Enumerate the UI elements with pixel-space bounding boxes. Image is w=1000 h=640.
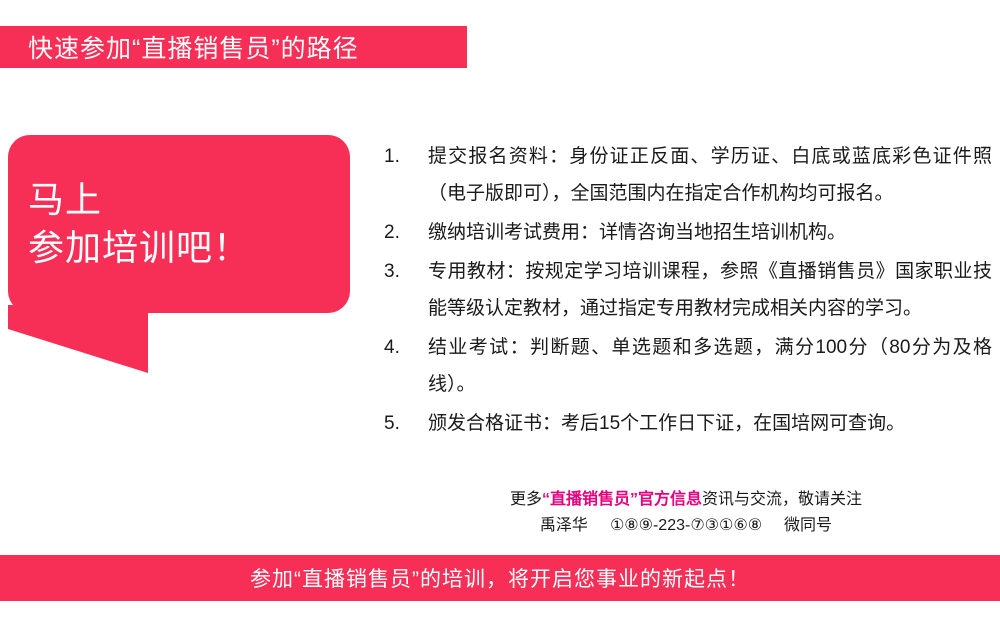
contact-wechat-note: 微同号 (784, 517, 832, 534)
list-item-text: 提交报名资料：身份证正反面、学历证、白底或蓝底彩色证件照（电子版即可），全国范围… (428, 138, 992, 212)
contact-phone: ①⑧⑨-223-⑦③①⑥⑧ (610, 517, 762, 534)
follow-us-line: 更多“直播销售员”官方信息资讯与交流，敬请关注 (380, 487, 992, 513)
callout-speech-bubble: 马上 参加培训吧！ (8, 135, 350, 375)
steps-list: 1. 提交报名资料：身份证正反面、学历证、白底或蓝底彩色证件照（电子版即可），全… (380, 138, 992, 444)
list-item-text: 缴纳培训考试费用：详情咨询当地招生培训机构。 (428, 214, 992, 251)
footer-slogan: 参加“直播销售员”的培训，将开启您事业的新起点！ (250, 563, 750, 593)
list-item-text: 结业考试：判断题、单选题和多选题，满分100分（80分为及格线）。 (428, 329, 992, 403)
contact-details-line: 禹泽华①⑧⑨-223-⑦③①⑥⑧微同号 (380, 513, 992, 539)
contact-block: 更多“直播销售员”官方信息资讯与交流，敬请关注 禹泽华①⑧⑨-223-⑦③①⑥⑧… (380, 487, 992, 539)
footer-banner: 参加“直播销售员”的培训，将开启您事业的新起点！ (0, 555, 1000, 601)
list-item-marker: 2. (380, 214, 428, 251)
list-item-marker: 4. (380, 329, 428, 366)
list-item: 4. 结业考试：判断题、单选题和多选题，满分100分（80分为及格线）。 (380, 329, 992, 403)
follow-us-highlight: “直播销售员”官方信息 (542, 491, 702, 508)
list-item-text: 颁发合格证书：考后15个工作日下证，在国培网可查询。 (428, 405, 992, 442)
list-item-text: 专用教材：按规定学习培训课程，参照《直播销售员》国家职业技能等级认定教材，通过指… (428, 253, 992, 327)
speech-bubble-tail-icon (8, 305, 168, 373)
list-item: 1. 提交报名资料：身份证正反面、学历证、白底或蓝底彩色证件照（电子版即可），全… (380, 138, 992, 212)
header-title: 快速参加“直播销售员”的路径 (0, 29, 359, 65)
contact-name: 禹泽华 (540, 517, 588, 534)
list-item-marker: 5. (380, 405, 428, 442)
list-item: 2. 缴纳培训考试费用：详情咨询当地招生培训机构。 (380, 214, 992, 251)
list-item-marker: 1. (380, 138, 428, 175)
header-banner: 快速参加“直播销售员”的路径 (0, 26, 467, 68)
list-item: 3. 专用教材：按规定学习培训课程，参照《直播销售员》国家职业技能等级认定教材，… (380, 253, 992, 327)
speech-bubble-line-1: 马上 (28, 176, 350, 224)
follow-us-suffix: 资讯与交流，敬请关注 (702, 491, 862, 508)
speech-bubble-line-2: 参加培训吧！ (28, 224, 350, 272)
list-item-marker: 3. (380, 253, 428, 290)
speech-bubble-text: 马上 参加培训吧！ (8, 135, 350, 313)
list-item: 5. 颁发合格证书：考后15个工作日下证，在国培网可查询。 (380, 405, 992, 442)
follow-us-prefix: 更多 (510, 491, 542, 508)
